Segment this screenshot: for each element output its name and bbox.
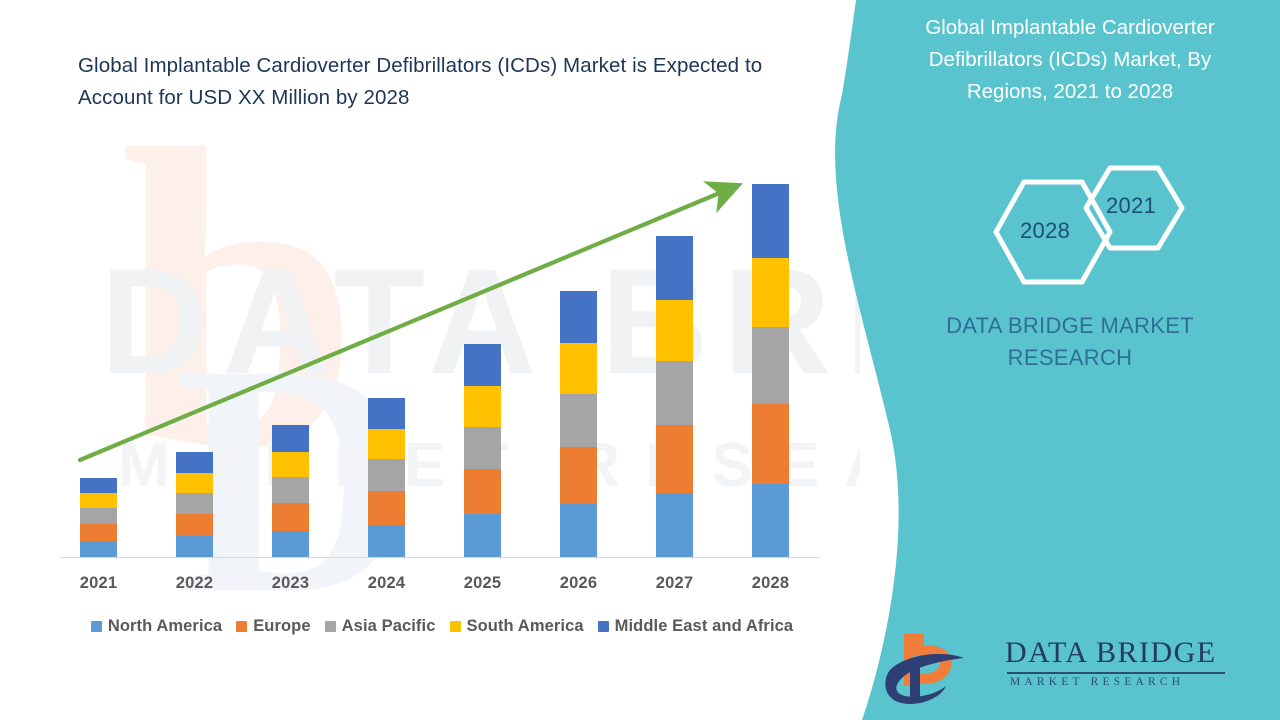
bar-segment bbox=[464, 427, 501, 469]
panel-title: Global Implantable Cardioverter Defibril… bbox=[890, 12, 1250, 108]
hex-badge-group: 2021 2028 bbox=[860, 150, 1280, 290]
x-axis-line bbox=[60, 557, 820, 558]
bar-segment bbox=[272, 477, 309, 503]
x-axis-label-2027: 2027 bbox=[635, 574, 715, 593]
bar-segment bbox=[752, 404, 789, 484]
right-panel-content: Global Implantable Cardioverter Defibril… bbox=[860, 0, 1280, 720]
panel-brand-text: DATA BRIDGE MARKET RESEARCH bbox=[890, 310, 1250, 374]
bar-2025[interactable] bbox=[464, 344, 501, 557]
bar-segment bbox=[752, 184, 789, 258]
bar-segment bbox=[560, 343, 597, 394]
legend-item[interactable]: South America bbox=[450, 617, 584, 636]
bar-segment bbox=[176, 536, 213, 557]
legend-item[interactable]: Middle East and Africa bbox=[598, 617, 794, 636]
bar-segment bbox=[656, 361, 693, 425]
bar-segment bbox=[80, 493, 117, 508]
legend-swatch-icon bbox=[598, 621, 609, 632]
x-axis-label-2022: 2022 bbox=[155, 574, 235, 593]
x-axis-label-2026: 2026 bbox=[539, 574, 619, 593]
bar-segment bbox=[80, 541, 117, 557]
x-axis-label-2024: 2024 bbox=[347, 574, 427, 593]
bar-2026[interactable] bbox=[560, 291, 597, 557]
legend-label: Middle East and Africa bbox=[615, 617, 794, 636]
chart-plot-area: 20212022202320242025202620272028 bbox=[0, 0, 860, 720]
bar-segment bbox=[752, 327, 789, 404]
logo-title: DATA BRIDGE bbox=[1005, 636, 1217, 670]
legend-label: North America bbox=[108, 617, 222, 636]
bar-segment bbox=[656, 425, 693, 493]
bar-2021[interactable] bbox=[80, 478, 117, 557]
x-axis-label-2021: 2021 bbox=[59, 574, 139, 593]
legend-swatch-icon bbox=[236, 621, 247, 632]
logo-divider bbox=[1007, 672, 1225, 674]
logo-subtitle: MARKET RESEARCH bbox=[1010, 676, 1184, 688]
slide-canvas: b D DATA BRIDGE MARKET RESEARCH Global I… bbox=[0, 0, 1280, 720]
bar-2023[interactable] bbox=[272, 425, 309, 557]
legend-item[interactable]: North America bbox=[91, 617, 222, 636]
bar-segment bbox=[80, 524, 117, 541]
legend-swatch-icon bbox=[91, 621, 102, 632]
legend-label: South America bbox=[467, 617, 584, 636]
bar-segment bbox=[464, 514, 501, 557]
bar-segment bbox=[176, 473, 213, 493]
bar-segment bbox=[560, 394, 597, 447]
bar-segment bbox=[464, 469, 501, 514]
x-axis-label-2023: 2023 bbox=[251, 574, 331, 593]
bar-segment bbox=[368, 525, 405, 557]
legend-swatch-icon bbox=[450, 621, 461, 632]
bar-segment bbox=[272, 452, 309, 477]
company-logo: DATA BRIDGE MARKET RESEARCH bbox=[880, 628, 1260, 708]
legend-label: Asia Pacific bbox=[342, 617, 436, 636]
bar-segment bbox=[368, 491, 405, 525]
bar-segment bbox=[560, 447, 597, 504]
bar-segment bbox=[368, 429, 405, 459]
legend-item[interactable]: Europe bbox=[236, 617, 310, 636]
bar-2027[interactable] bbox=[656, 236, 693, 557]
bar-2028[interactable] bbox=[752, 184, 789, 557]
bar-segment bbox=[272, 531, 309, 557]
bar-segment bbox=[560, 291, 597, 343]
bar-segment bbox=[272, 503, 309, 531]
logo-mark-icon bbox=[880, 628, 995, 706]
legend-item[interactable]: Asia Pacific bbox=[325, 617, 436, 636]
bar-segment bbox=[656, 236, 693, 300]
x-axis-label-2025: 2025 bbox=[443, 574, 523, 593]
bar-2024[interactable] bbox=[368, 398, 405, 557]
trend-arrow-icon bbox=[0, 0, 860, 720]
bar-2022[interactable] bbox=[176, 452, 213, 557]
hex-badge-label-2028: 2028 bbox=[1020, 218, 1070, 244]
bar-segment bbox=[464, 344, 501, 386]
bar-segment bbox=[80, 478, 117, 493]
bar-segment bbox=[80, 508, 117, 524]
bar-segment bbox=[368, 398, 405, 429]
bar-segment bbox=[176, 514, 213, 536]
x-axis-label-2028: 2028 bbox=[731, 574, 811, 593]
bar-segment bbox=[272, 425, 309, 452]
chart-legend: North AmericaEuropeAsia PacificSouth Ame… bbox=[57, 617, 827, 636]
bar-segment bbox=[560, 504, 597, 557]
bar-segment bbox=[464, 386, 501, 427]
bar-segment bbox=[176, 493, 213, 514]
hex-badge-label-2021: 2021 bbox=[1106, 193, 1156, 219]
bar-segment bbox=[656, 493, 693, 557]
bar-segment bbox=[752, 258, 789, 327]
legend-label: Europe bbox=[253, 617, 310, 636]
bar-segment bbox=[752, 484, 789, 557]
bar-segment bbox=[368, 459, 405, 491]
bar-segment bbox=[656, 300, 693, 361]
bar-segment bbox=[176, 452, 213, 473]
legend-swatch-icon bbox=[325, 621, 336, 632]
